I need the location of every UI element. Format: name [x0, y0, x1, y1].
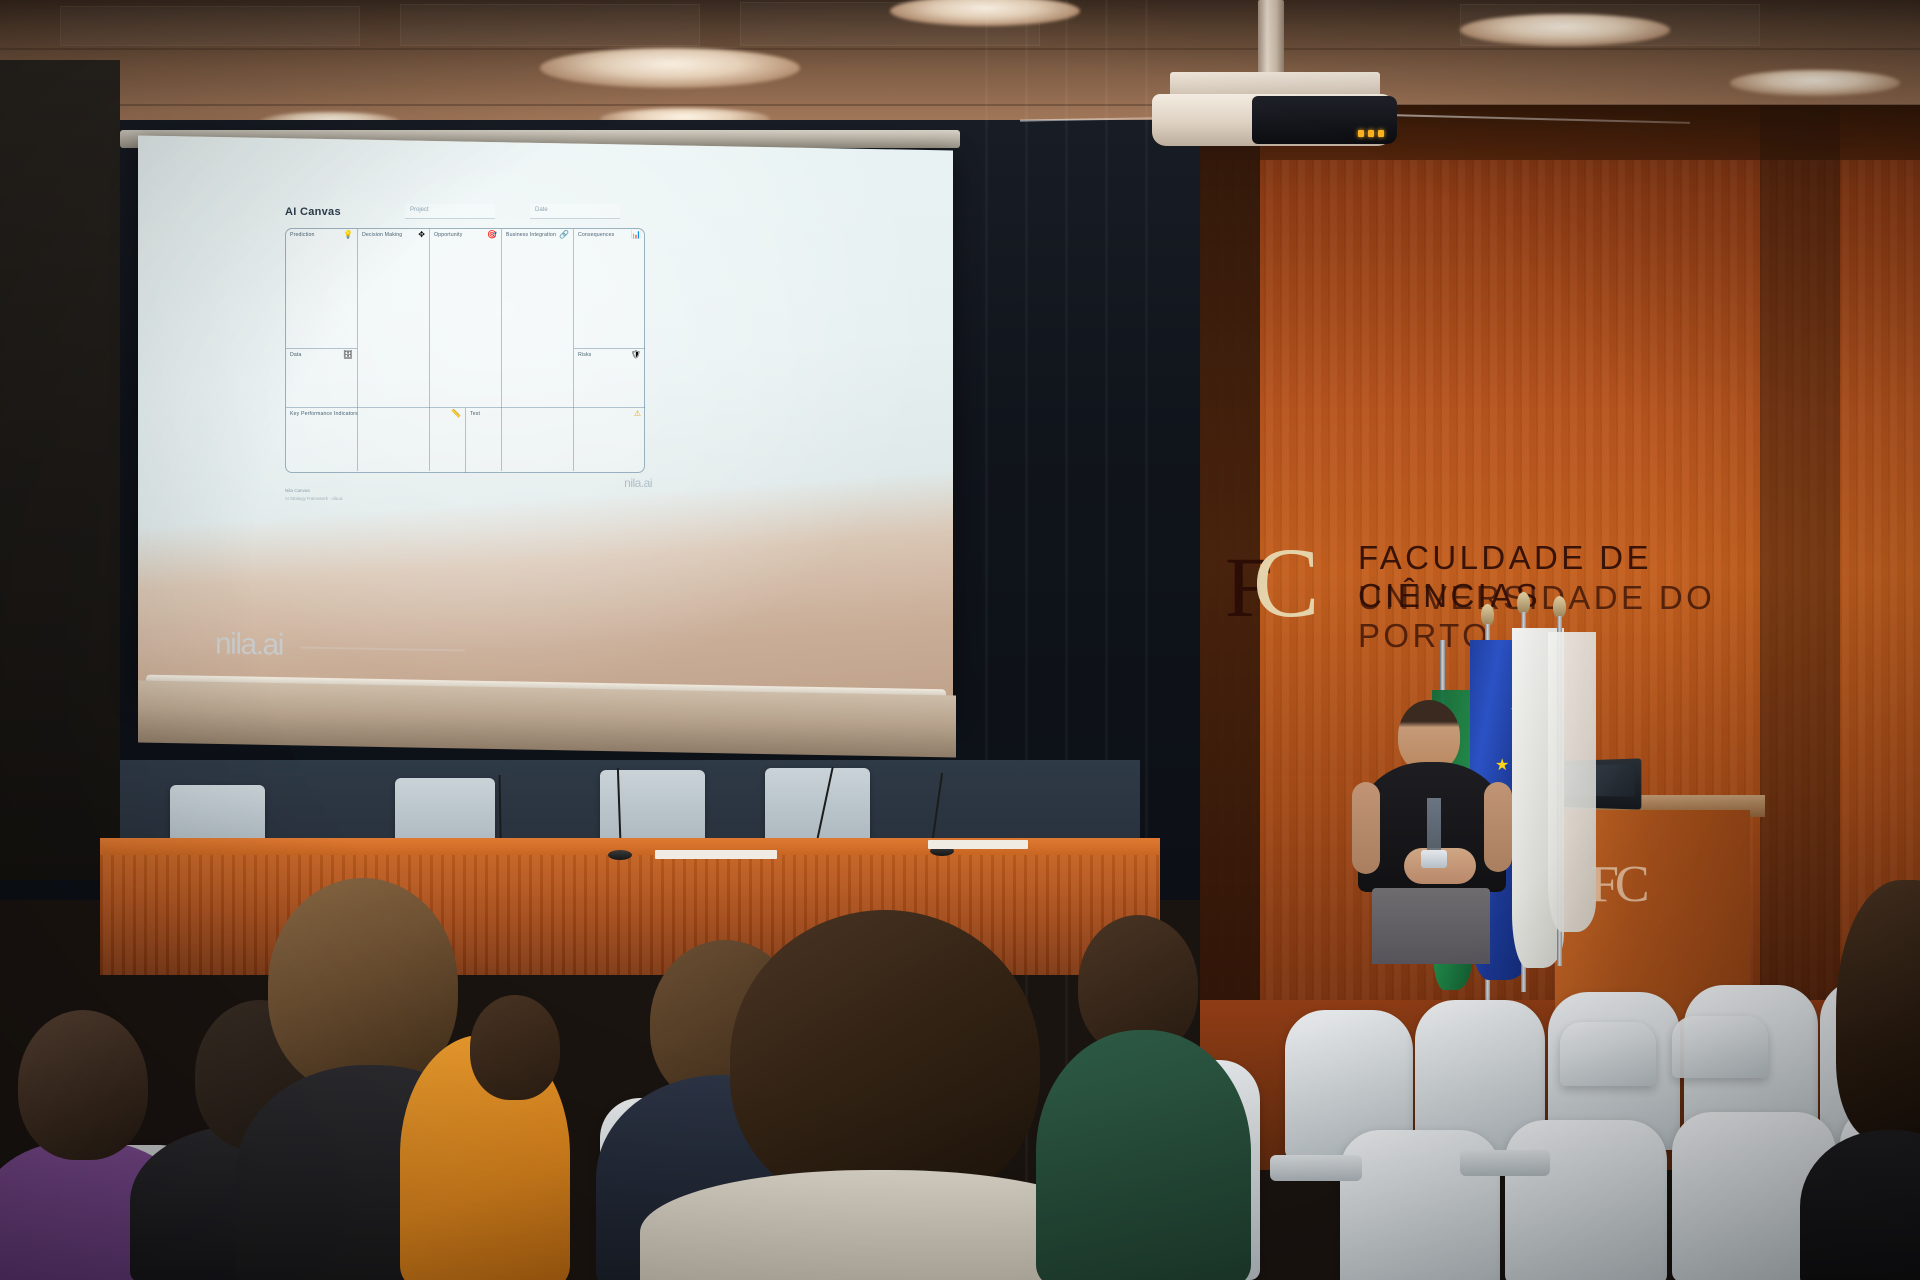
ceiling-tile: [60, 6, 360, 46]
projector-led-indicator: [1358, 130, 1364, 137]
slide-date-field: Date: [530, 204, 620, 219]
projector-lens: [1272, 108, 1298, 134]
audience-member-torso: [1036, 1030, 1251, 1280]
presenter-arm-left: [1352, 782, 1380, 874]
canvas-cell-label: Key Performance Indicators: [290, 411, 358, 417]
canvas-grid: Prediction 💡 Data 🗄 Decision Making ✥ Op…: [285, 228, 645, 473]
slide-title: AI Canvas: [285, 206, 341, 218]
flag-finial: [1517, 592, 1530, 614]
canvas-cell-label: Decision Making: [362, 232, 402, 238]
presenter-legs: [1372, 888, 1490, 964]
target-icon: 🎯: [487, 231, 497, 239]
projected-slide: AI Canvas Project Date Prediction 💡 Data…: [160, 188, 660, 518]
slide-footer-line1: Nila Canvas: [285, 488, 310, 493]
flag-finial: [1481, 604, 1494, 626]
presenter-badge: [1421, 850, 1447, 868]
canvas-cell-label: Risks: [578, 352, 591, 358]
ceiling-seam: [0, 48, 1920, 50]
ceiling-tile: [400, 4, 700, 46]
canvas-cell-label: Data: [290, 352, 302, 358]
monogram-c-letter: C: [1253, 527, 1316, 638]
chart-icon: 📊: [631, 231, 641, 239]
canvas-cell-kpi: Key Performance Indicators 📏: [286, 407, 466, 473]
projector-led-indicator: [1368, 130, 1374, 137]
canvas-cell-label: Test: [470, 411, 480, 417]
seat-armrest: [1270, 1155, 1362, 1181]
auditorium-seat: [1505, 1120, 1667, 1280]
eu-star-icon: ★: [1495, 758, 1511, 774]
ruler-icon: 📏: [451, 410, 461, 418]
lightbulb-icon: 💡: [343, 231, 353, 239]
desk-paper: [655, 850, 777, 859]
audience-member-head: [18, 1010, 148, 1160]
panel-desk-front: [100, 855, 1160, 975]
slide-brand-logo: nila.ai: [624, 476, 652, 490]
seat-armrest: [1460, 1150, 1550, 1176]
ceiling-light: [1730, 70, 1900, 96]
fc-monogram: FC: [1225, 533, 1316, 633]
shield-icon: 🛡: [631, 351, 641, 359]
canvas-cell-label: Consequences: [578, 232, 614, 238]
podium-monogram: FC: [1590, 855, 1670, 925]
flag-finial: [1553, 596, 1566, 618]
decision-icon: ✥: [418, 231, 425, 239]
warning-icon: ⚠: [634, 410, 641, 418]
microphone-base: [608, 850, 632, 860]
lecture-hall-photo: FC FACULDADE DE CIÊNCIAS UNIVERSIDADE DO…: [0, 0, 1920, 1280]
audience-member-head-foreground: [730, 910, 1040, 1210]
auditorium-seat-back-row: [1672, 1016, 1768, 1078]
ceiling-light: [540, 48, 800, 88]
auditorium-seat-back-row: [1560, 1022, 1656, 1086]
presenter-lanyard: [1427, 798, 1441, 858]
canvas-cell-prediction: Prediction 💡: [286, 229, 358, 349]
slide-project-field: Project: [405, 204, 495, 219]
database-icon: 🗄: [343, 351, 353, 359]
side-wall-left: [0, 60, 120, 880]
canvas-cell-test: Test ⚠: [466, 407, 645, 473]
canvas-cell-consequences: Consequences 📊: [574, 229, 645, 349]
wood-wall-shadow-column: [1760, 105, 1840, 1005]
link-icon: 🔗: [559, 231, 569, 239]
canvas-cell-label: Prediction: [290, 232, 315, 238]
presenter-arm-right: [1484, 782, 1512, 872]
canvas-cell-label: Opportunity: [434, 232, 462, 238]
projector-led-indicator: [1378, 130, 1384, 137]
screen-brand-logo: nila.ai: [215, 627, 283, 662]
desk-paper: [928, 840, 1028, 849]
slide-footer-line2: AI Strategy Framework · nila.ai: [285, 496, 342, 501]
ceiling-light: [1460, 14, 1670, 46]
audience-member-head: [470, 995, 560, 1100]
flag-faculty: [1548, 632, 1596, 932]
canvas-cell-label: Business Integration: [506, 232, 556, 238]
